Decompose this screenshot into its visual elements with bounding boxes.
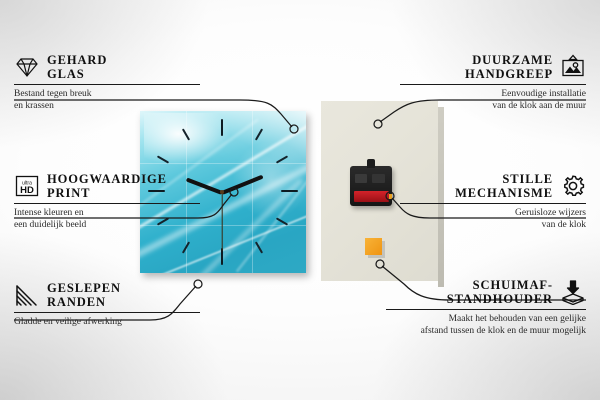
beveled-edges-icon xyxy=(14,282,40,308)
glass-pane-line xyxy=(140,163,306,164)
divider xyxy=(14,84,200,85)
feature-header: SCHUIMAF-STANDHOUDER xyxy=(386,278,586,306)
feature-description: Gladde en veilige afwerking xyxy=(14,317,200,329)
clock-tick-3 xyxy=(281,190,298,192)
center-pin xyxy=(220,190,224,194)
feature-description: Maakt het behouden van een gelijkeafstan… xyxy=(386,314,586,337)
picture-frame-icon xyxy=(560,54,586,80)
divider xyxy=(14,203,200,204)
feature-header: DUURZAMEHANDGREEP xyxy=(400,53,586,81)
foam-spacer xyxy=(365,238,382,255)
battery xyxy=(354,191,389,202)
infographic-canvas: GEHARDGLAS Bestand tegen breuken krassen… xyxy=(0,0,600,400)
feature-description: Geruisloze wijzersvan de klok xyxy=(400,208,586,231)
feature-header: STILLEMECHANISME xyxy=(400,172,586,200)
feature-title: GEHARDGLAS xyxy=(47,53,107,81)
divider xyxy=(14,312,200,313)
glass-pane-line xyxy=(252,111,253,273)
feature-duurzame-handgreep[interactable]: DUURZAMEHANDGREEP Eenvoudige installatie… xyxy=(400,53,586,112)
feature-description: Eenvoudige installatievan de klok aan de… xyxy=(400,89,586,112)
divider xyxy=(400,203,586,204)
feature-title: STILLEMECHANISME xyxy=(455,172,553,200)
feature-title: DUURZAMEHANDGREEP xyxy=(465,53,553,81)
feature-schuimafstandhouder[interactable]: SCHUIMAF-STANDHOUDER Maakt het behouden … xyxy=(386,278,586,337)
feature-title: GESLEPENRANDEN xyxy=(47,281,121,309)
divider xyxy=(400,84,586,85)
second-hand xyxy=(221,193,222,251)
feature-title: HOOGWAARDIGEPRINT xyxy=(47,172,167,200)
feature-description: Bestand tegen breuken krassen xyxy=(14,89,200,112)
feature-description: Intense kleuren eneen duidelijk beeld xyxy=(14,208,200,231)
svg-text:HD: HD xyxy=(20,185,34,196)
feature-stille-mechanisme[interactable]: STILLEMECHANISME Geruisloze wijzersvan d… xyxy=(400,172,586,231)
clock-tick-1 xyxy=(255,128,263,140)
ultra-hd-icon: ultra HD xyxy=(14,173,40,199)
clock-movement xyxy=(350,166,392,206)
press-down-pad-icon xyxy=(560,279,586,305)
gear-icon xyxy=(560,173,586,199)
feature-title: SCHUIMAF-STANDHOUDER xyxy=(447,278,553,306)
feature-geslepen-randen[interactable]: GESLEPENRANDEN Gladde en veilige afwerki… xyxy=(14,281,200,329)
feature-header: GESLEPENRANDEN xyxy=(14,281,200,309)
divider xyxy=(386,309,586,310)
feature-hoogwaardige-print[interactable]: ultra HD HOOGWAARDIGEPRINT Intense kleur… xyxy=(14,172,200,231)
clock-tick-12 xyxy=(221,119,223,136)
movement-shaft xyxy=(367,159,375,168)
feature-header: GEHARDGLAS xyxy=(14,53,200,81)
diamond-icon xyxy=(14,54,40,80)
movement-detail xyxy=(372,174,385,183)
feature-gehard-glas[interactable]: GEHARDGLAS Bestand tegen breuken krassen xyxy=(14,53,200,112)
feature-header: ultra HD HOOGWAARDIGEPRINT xyxy=(14,172,200,200)
movement-detail xyxy=(355,174,367,183)
